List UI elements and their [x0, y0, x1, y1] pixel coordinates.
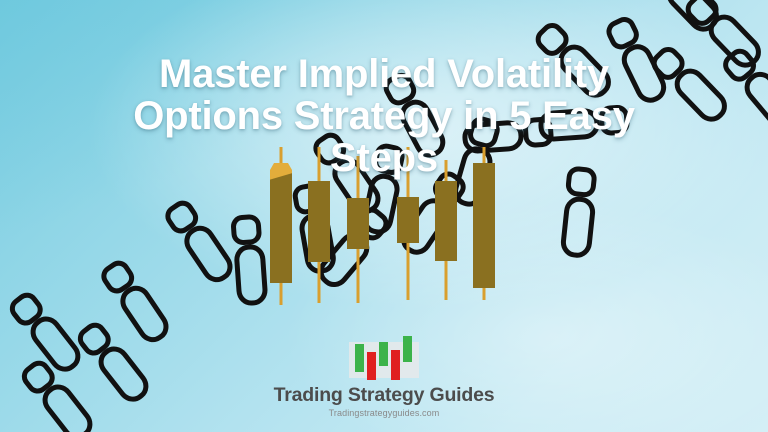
- candlestick-chart-icon: [341, 336, 427, 382]
- page-title-line-3: Steps: [330, 136, 438, 180]
- brand-name: Trading Strategy Guides: [0, 384, 768, 406]
- brand-url: Tradingstrategyguides.com: [0, 407, 768, 420]
- page-title-line-1: Master Implied Volatility: [159, 52, 609, 96]
- logo-candle-bar: [403, 336, 412, 362]
- logo-candle-bar: [379, 342, 388, 366]
- page-title-line-2: Options Strategy in 5 Easy: [133, 94, 635, 138]
- logo-candle-bar: [367, 352, 376, 380]
- logo-candle-bar: [355, 344, 364, 372]
- brand-logo[interactable]: Trading Strategy Guides Tradingstrategyg…: [0, 336, 768, 420]
- page-title: Master Implied Volatility Options Strate…: [0, 53, 768, 179]
- logo-candle-bar: [391, 350, 400, 380]
- hero-banner: Master Implied Volatility Options Strate…: [0, 0, 768, 432]
